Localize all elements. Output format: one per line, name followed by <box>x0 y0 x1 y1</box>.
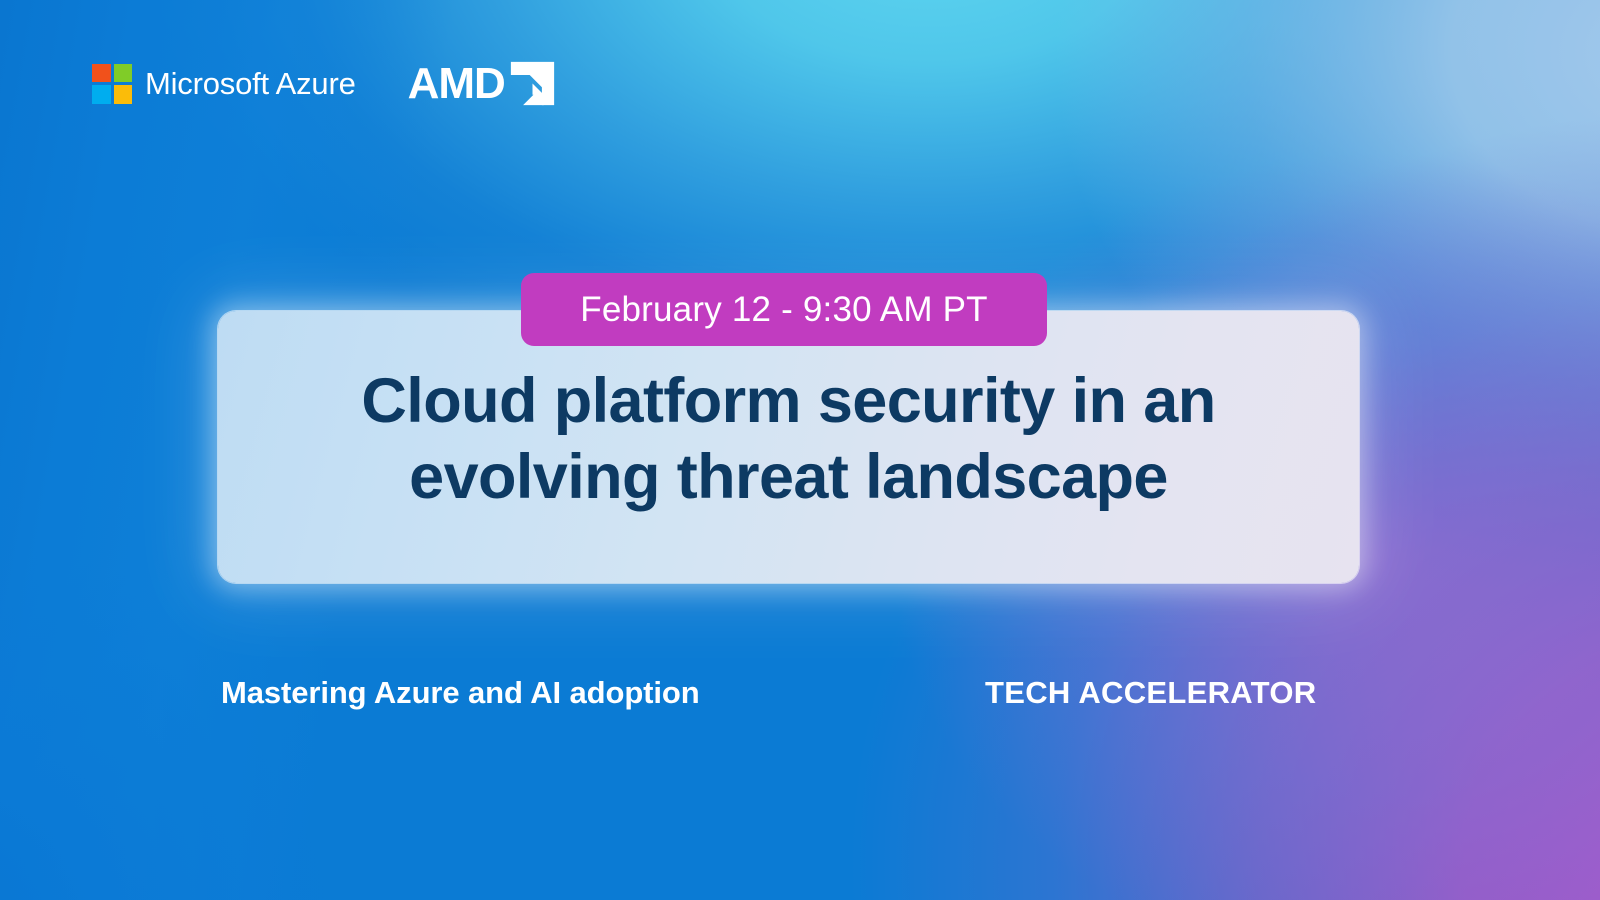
amd-arrow-icon <box>509 60 556 107</box>
event-promo-banner: Microsoft Azure AMD Cloud platform secur… <box>0 0 1600 900</box>
amd-logo: AMD <box>408 60 556 107</box>
session-title-card: Cloud platform security in an evolving t… <box>218 311 1359 583</box>
date-time-badge: February 12 - 9:30 AM PT <box>521 273 1047 346</box>
date-time-label: February 12 - 9:30 AM PT <box>580 292 987 327</box>
microsoft-logo-yellow-square <box>114 85 133 104</box>
microsoft-logo-red-square <box>92 64 111 83</box>
series-label: Mastering Azure and AI adoption <box>221 665 700 721</box>
session-title: Cloud platform security in an evolving t… <box>218 363 1359 515</box>
amd-wordmark: AMD <box>408 62 505 106</box>
footer-row: Mastering Azure and AI adoption TECH ACC… <box>0 665 1600 721</box>
microsoft-logo-green-square <box>114 64 133 83</box>
microsoft-azure-wordmark: Microsoft Azure <box>145 68 356 99</box>
microsoft-logo-blue-square <box>92 85 111 104</box>
microsoft-azure-logo: Microsoft Azure <box>92 64 356 104</box>
logo-lockup: Microsoft Azure AMD <box>92 60 556 107</box>
microsoft-logo-icon <box>92 64 132 104</box>
event-type-label: TECH ACCELERATOR <box>985 665 1316 721</box>
